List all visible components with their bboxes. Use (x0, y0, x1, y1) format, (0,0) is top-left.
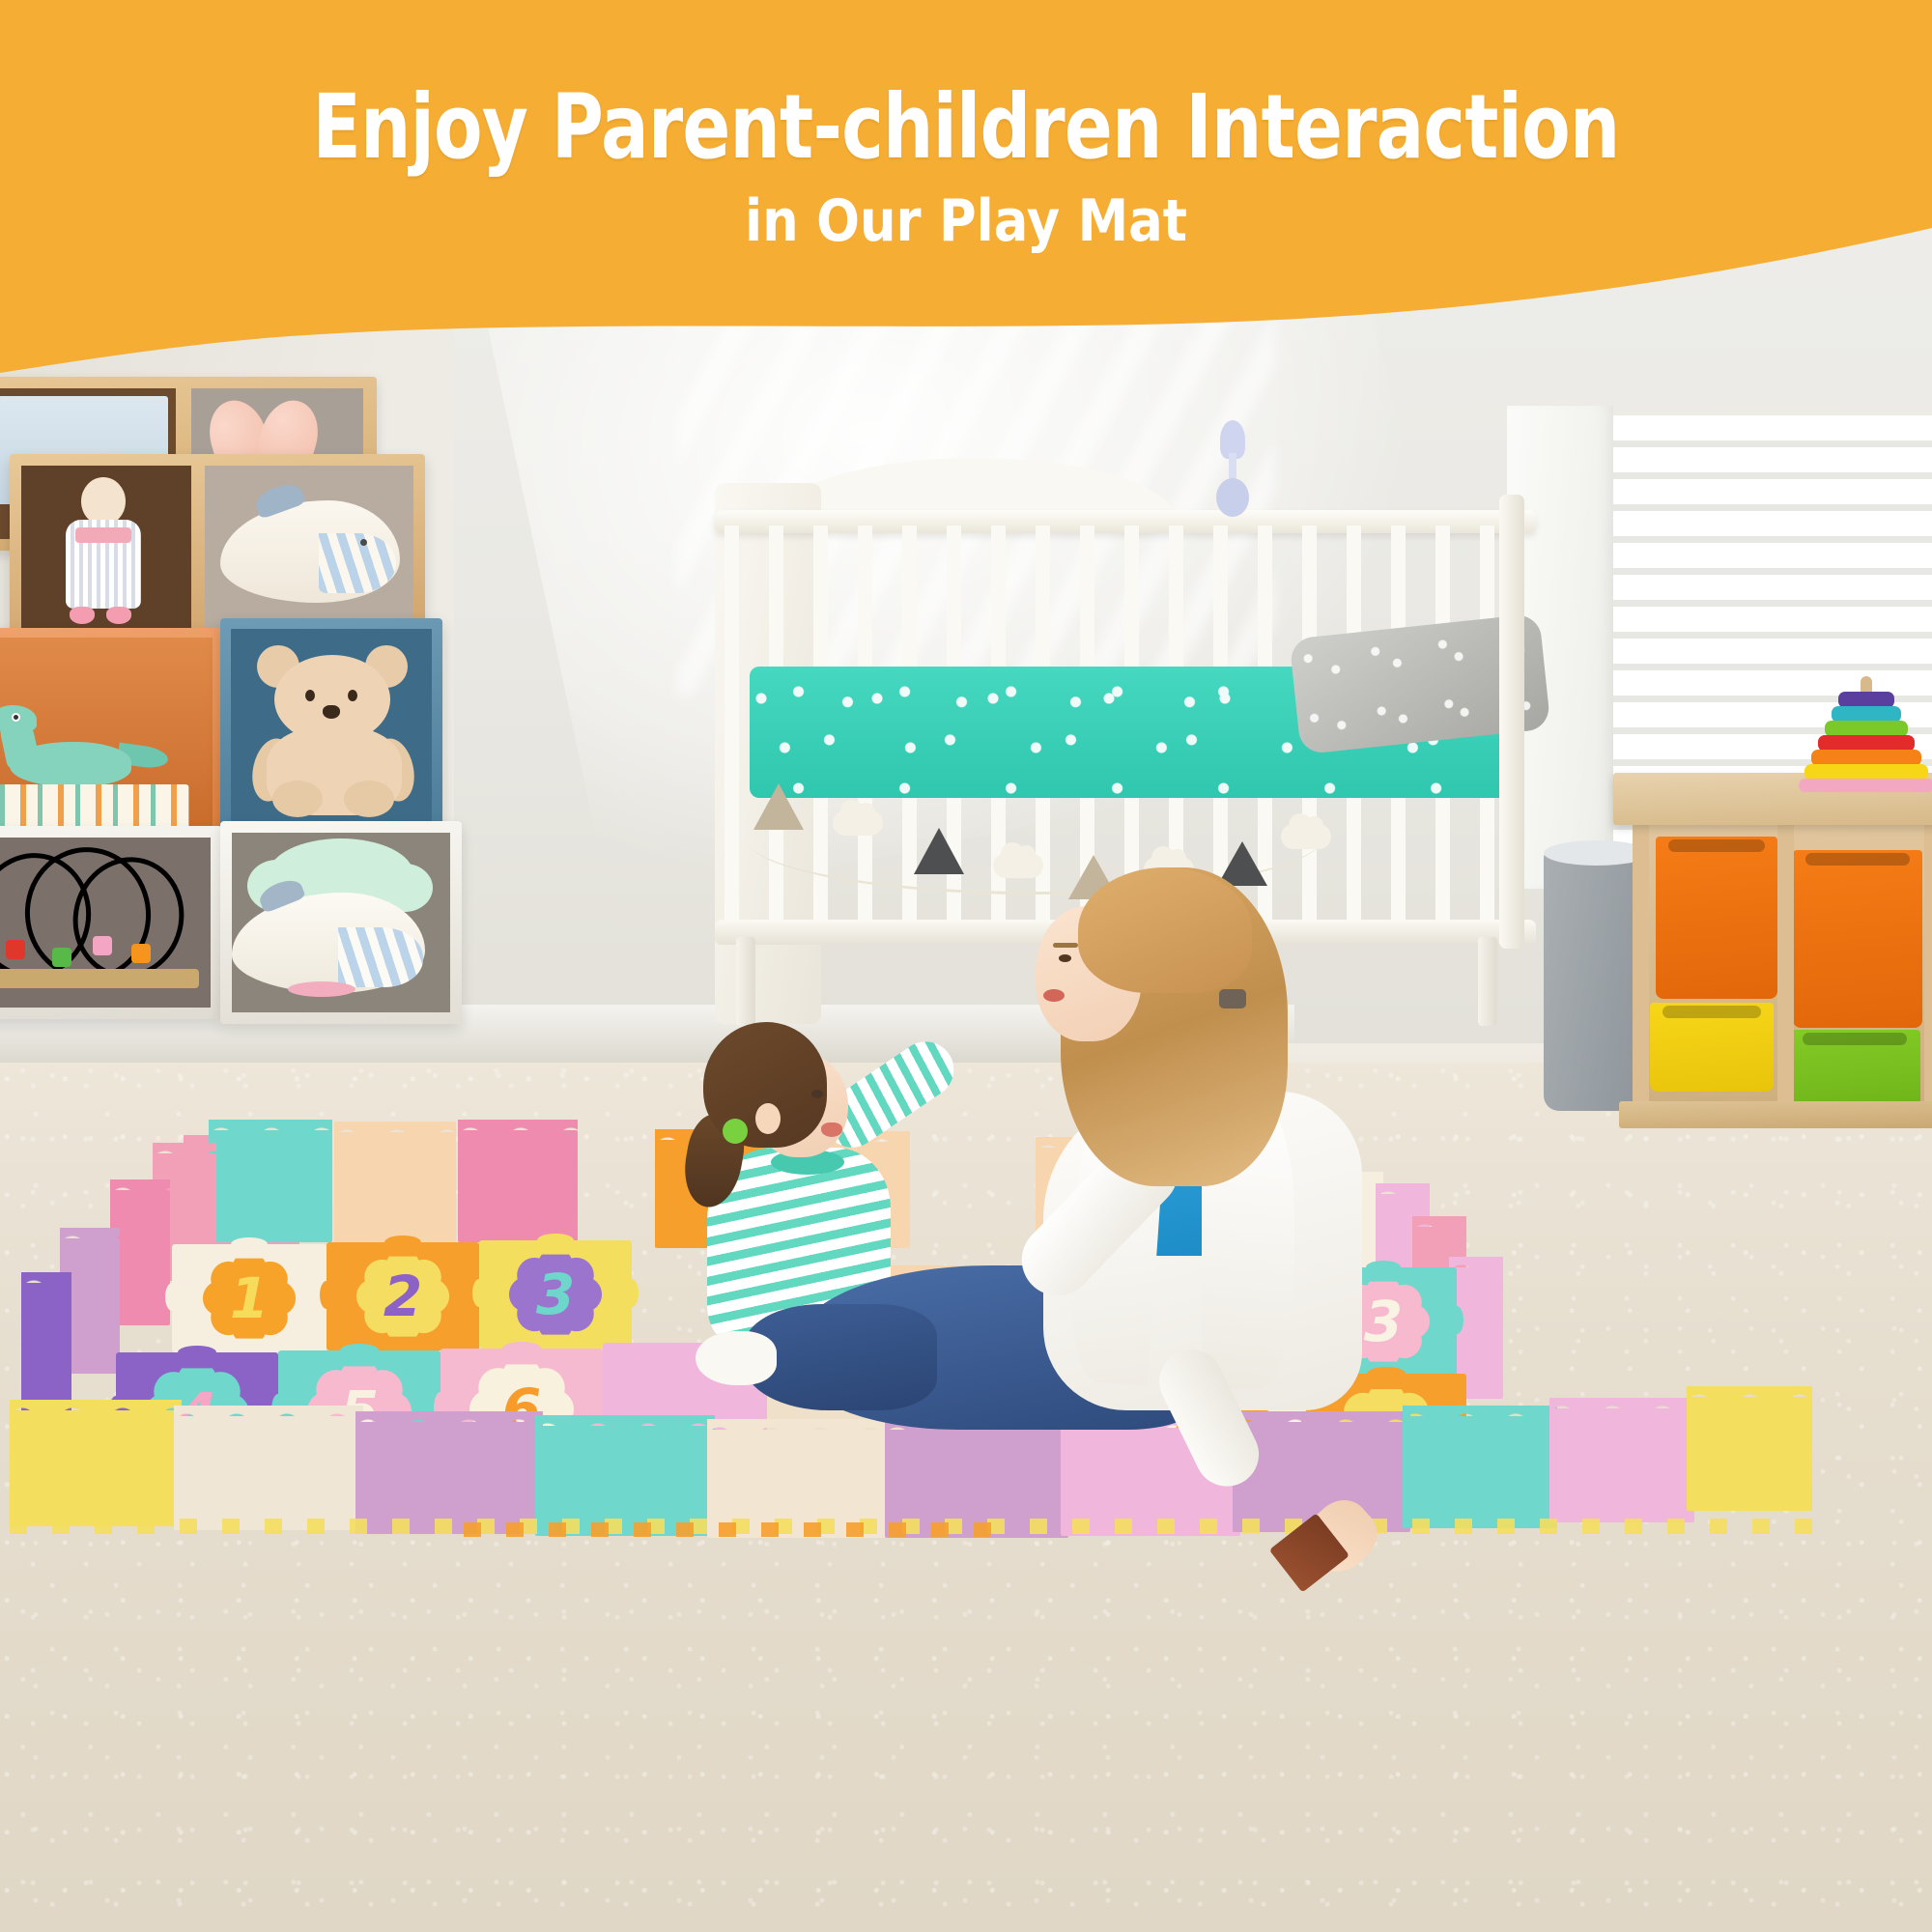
toy-bin-storage (1633, 773, 1932, 1121)
mat-tile: 3 (479, 1240, 632, 1349)
tile-number: 2 (327, 1242, 479, 1350)
hair-tie (723, 1119, 748, 1144)
tile-number: 1 (172, 1244, 327, 1352)
fence-panel (458, 1130, 578, 1242)
hair-clip (1219, 989, 1246, 1009)
fence-panel-front (1687, 1397, 1812, 1511)
fence-panel-front (174, 1416, 363, 1530)
nursery-scene: 1 2 3 4 5 6 1 2 3 4 5 6 (0, 0, 1932, 1932)
mother-hair-front (1078, 867, 1252, 993)
bead-maze-toy (0, 843, 199, 988)
shelf-cube-white-left (0, 826, 222, 1019)
fence-panel-front (10, 1410, 182, 1526)
fence-panel (334, 1132, 456, 1242)
child-eye (811, 1090, 823, 1098)
bin-yellow (1650, 1003, 1774, 1092)
fence-panel-front (1549, 1408, 1694, 1522)
product-marketing-image: 1 2 3 4 5 6 1 2 3 4 5 6 (0, 0, 1932, 1932)
mother-eye (1059, 954, 1071, 962)
child-mouth (821, 1122, 842, 1137)
mat-tile: 1 (172, 1244, 327, 1352)
fence-panel (209, 1130, 332, 1242)
shelf-cube-white-right (220, 821, 462, 1024)
child-ear (755, 1103, 781, 1134)
teddy-bear-plush (251, 645, 415, 819)
dinosaur-plush (0, 707, 153, 796)
tile-number: 3 (479, 1240, 632, 1349)
mat-tile: 2 (327, 1242, 479, 1350)
crib-mobile-icon (1212, 420, 1253, 526)
mother-sock (696, 1331, 777, 1385)
crib-leg (736, 937, 755, 1026)
fence-panel-side (21, 1283, 71, 1412)
ring (1799, 779, 1932, 792)
rag-doll (56, 477, 149, 628)
shelf-cube-blue (220, 618, 442, 840)
mother-lips (1043, 989, 1065, 1002)
stacking-ring-toy (1799, 676, 1932, 782)
cloud-icon (833, 810, 883, 836)
cloud-icon (1281, 824, 1331, 849)
mountain-icon (914, 828, 964, 874)
mat-knob-strip-2 (464, 1522, 1005, 1537)
fence-panel-front (355, 1422, 543, 1534)
mother-eyebrow (1053, 943, 1078, 948)
bin-orange-large-2 (1793, 850, 1922, 1028)
mountain-icon (753, 783, 804, 830)
shelf-cube-orange (0, 628, 222, 840)
bin-orange-large (1656, 837, 1777, 999)
mother (985, 850, 1526, 1449)
